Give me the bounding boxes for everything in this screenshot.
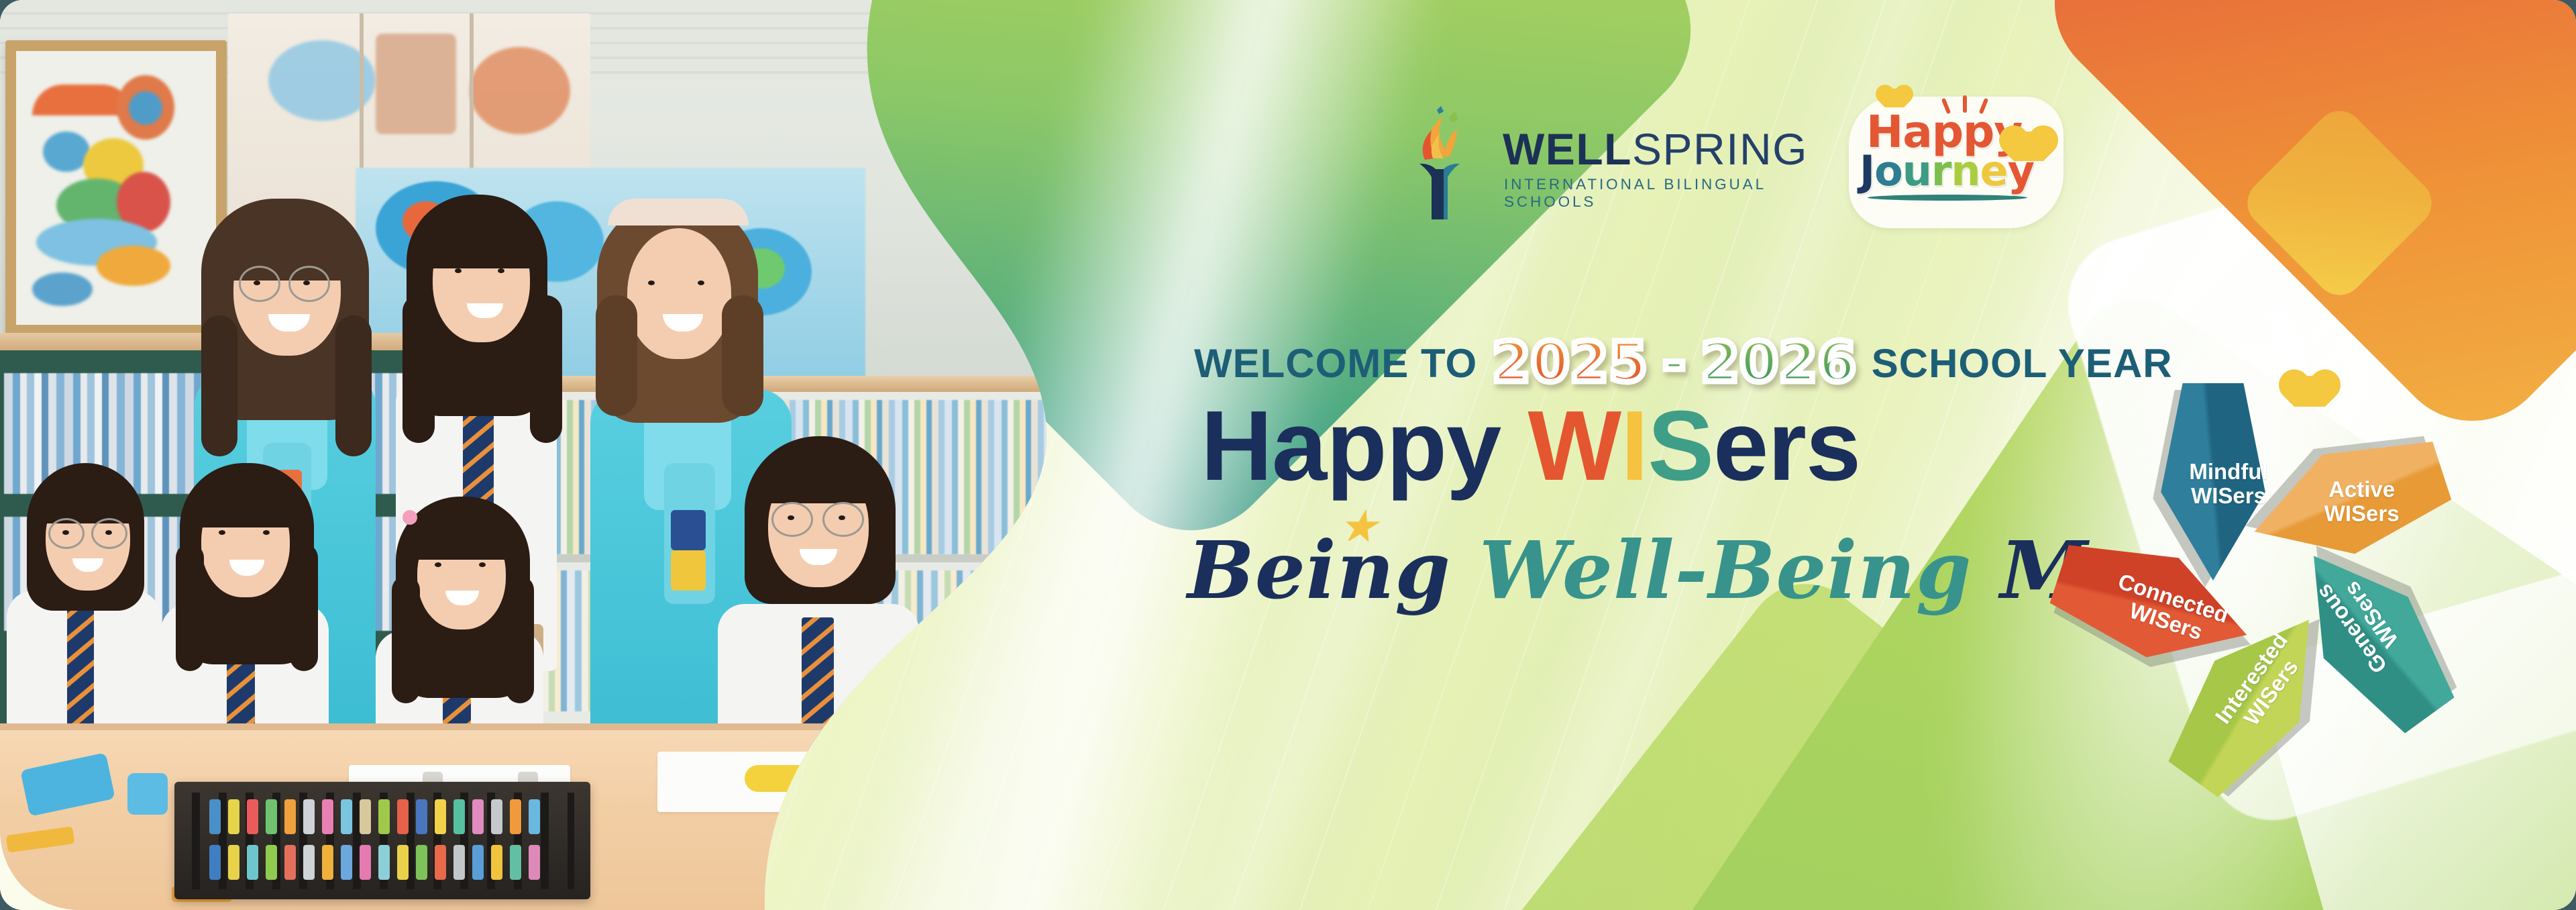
heart-icon-small [1885, 89, 1904, 107]
happy-journey-line2: Journey [1860, 146, 2034, 195]
welcome-line: WELCOME TO 2025 - 2026 SCHOOL YEAR [1194, 336, 2173, 391]
tagline-part-being: Being [1187, 523, 1479, 617]
welcome-suffix: SCHOOL YEAR [1872, 340, 2173, 387]
photo-paint-case [174, 782, 590, 899]
star-icon: ★ [1340, 503, 1377, 550]
tagline-part-wellbeing: Well-Being [1479, 523, 2000, 617]
year-dash: - [1662, 336, 1686, 391]
happy-journey-underline [1868, 195, 2027, 201]
banner-root: WELLSPRING INTERNATIONAL BILINGUAL SCHOO… [0, 0, 2576, 910]
tagline: ★Being Well-Being Me [1187, 523, 2139, 617]
title-part-happy: Happy [1201, 391, 1527, 501]
welcome-prefix: WELCOME TO [1194, 340, 1477, 387]
heart-icon-decor [2294, 376, 2325, 407]
title-part-ers: ers [1713, 391, 1860, 501]
page-title: Happy WISers [1201, 389, 1860, 503]
torch-flame-icon [1402, 102, 1503, 219]
wellspring-logo: WELLSPRING INTERNATIONAL BILINGUAL SCHOO… [1402, 102, 1805, 209]
photo-art-frame [5, 40, 227, 336]
happy-journey-logo: Happy Journey [1858, 101, 2059, 221]
year-end: 2026 [1701, 336, 1857, 391]
title-part-i: I [1621, 391, 1648, 501]
title-part-w: W [1527, 391, 1621, 501]
wellspring-wordmark: WELLSPRING [1503, 123, 1808, 174]
wellspring-subtitle: INTERNATIONAL BILINGUAL SCHOOLS [1504, 176, 1805, 211]
title-part-s: S [1648, 391, 1713, 501]
year-start: 2025 [1492, 336, 1648, 391]
